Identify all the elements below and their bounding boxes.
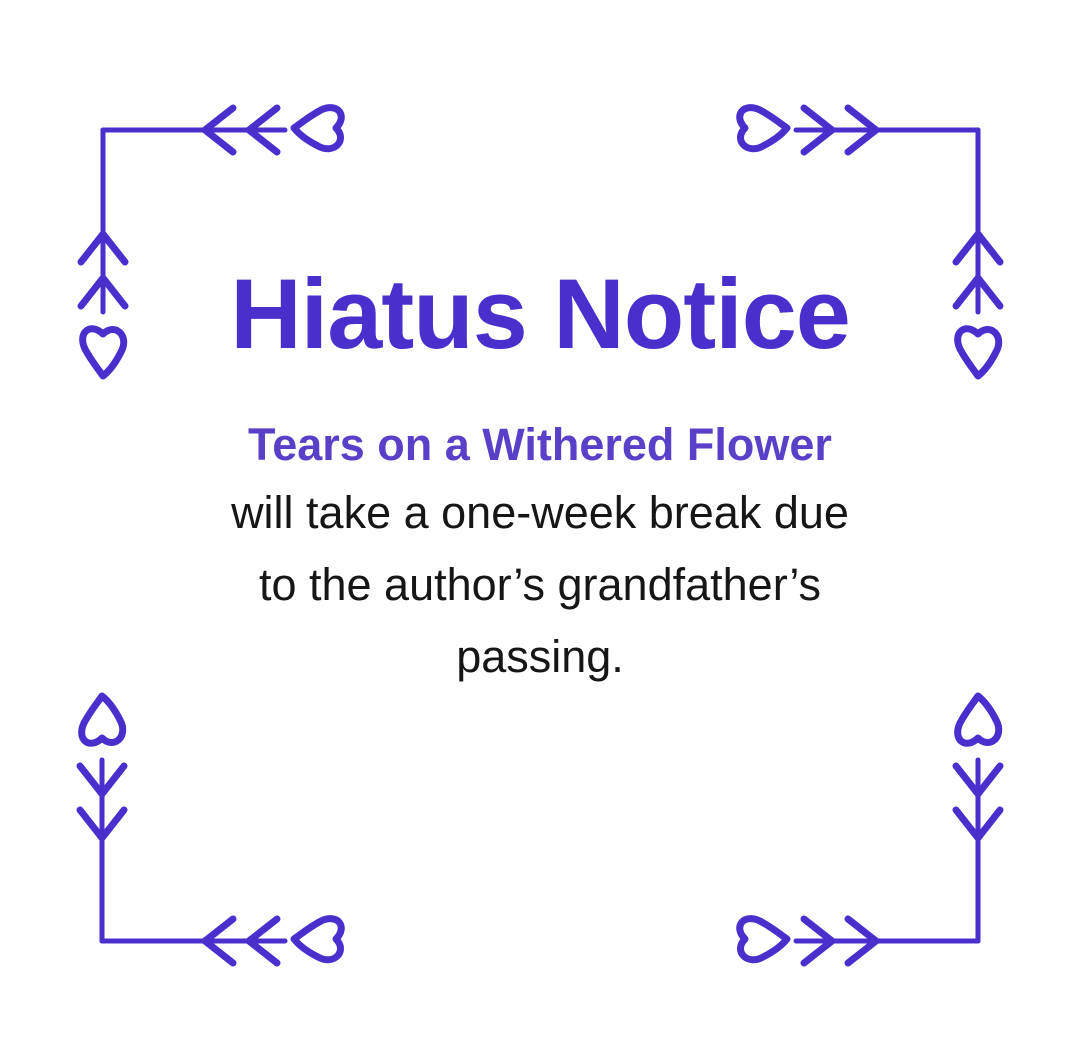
- notice-line-2: to the author’s grandfather’s: [0, 549, 1080, 621]
- corner-ornament-bottom-right: [740, 696, 1000, 963]
- corner-ornament-bottom-left: [80, 696, 341, 963]
- story-title: Tears on a Withered Flower: [0, 412, 1080, 477]
- notice-message: Tears on a Withered Flower will take a o…: [0, 412, 1080, 693]
- page-title: Hiatus Notice: [0, 262, 1080, 366]
- notice-line-3: passing.: [0, 621, 1080, 693]
- hiatus-notice-poster: Hiatus Notice Tears on a Withered Flower…: [0, 0, 1080, 1062]
- notice-line-1: will take a one-week break due: [0, 477, 1080, 549]
